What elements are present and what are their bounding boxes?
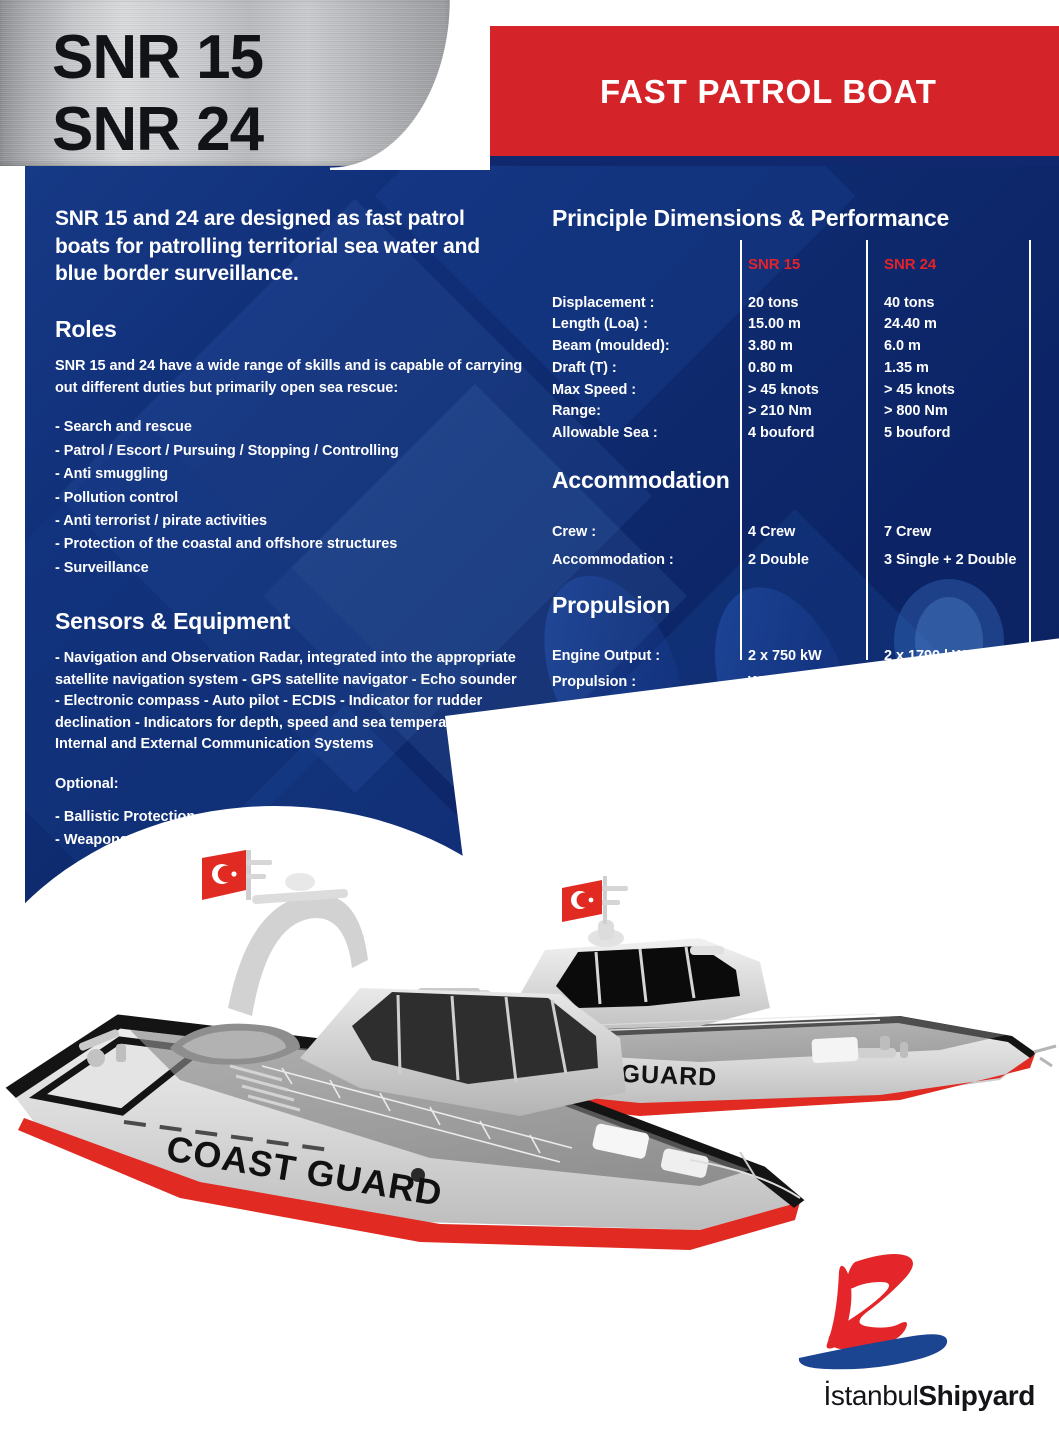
brochure-page: SNR 15 and 24 are designed as fast patro…	[0, 0, 1059, 1440]
turkish-flag-rear	[562, 880, 602, 922]
accommodation-heading: Accommodation	[552, 467, 1042, 494]
row-value-snr15: 2 Double	[742, 546, 878, 574]
table-divider-1	[740, 240, 742, 660]
company-name-bold: Shipyard	[918, 1380, 1035, 1411]
table-row: Range: > 210 Nm > 800 Nm	[552, 401, 1042, 423]
istanbul-shipyard-mark-icon	[795, 1248, 985, 1383]
row-label: Displacement :	[552, 293, 742, 315]
sensors-body: - Navigation and Observation Radar, inte…	[55, 648, 525, 755]
row-value-snr15: > 45 knots	[742, 380, 878, 402]
left-content-column: SNR 15 and 24 are designed as fast patro…	[55, 205, 525, 853]
list-item: - Ballistic Protection	[55, 806, 525, 829]
table-row: Max Speed : > 45 knots > 45 knots	[552, 380, 1042, 402]
row-value-snr15: 4 Crew	[742, 518, 878, 546]
row-value-snr15: 20 tons	[742, 293, 878, 315]
dimensions-heading: Principle Dimensions & Performance	[552, 205, 1042, 232]
row-value-snr15: 2 x 750 kW	[742, 644, 878, 669]
company-logo: İstanbulShipyard	[735, 1248, 1035, 1428]
table-divider-2	[866, 240, 868, 660]
table-row: Accommodation : 2 Double 3 Single + 2 Do…	[552, 546, 1042, 574]
table-row: Beam (moulded): 3.80 m 6.0 m	[552, 336, 1042, 358]
accommodation-table: Crew : 4 Crew 7 Crew Accommodation : 2 D…	[552, 518, 1042, 575]
propulsion-heading: Propulsion	[552, 592, 1042, 619]
list-item: - Search and rescue	[55, 416, 525, 439]
intro-paragraph: SNR 15 and 24 are designed as fast patro…	[55, 205, 525, 288]
row-value-snr24: Surface Drive	[878, 670, 1042, 695]
row-value-snr24: > 45 knots	[878, 380, 1042, 402]
row-value-snr15: > 210 Nm	[742, 401, 878, 423]
table-row: Engine Output : 2 x 750 kW 2 x 1790 kW	[552, 644, 1042, 669]
list-item: - Patrol / Escort / Pursuing / Stopping …	[55, 440, 525, 463]
row-label: Length (Loa) :	[552, 314, 742, 336]
row-label: Beam (moulded):	[552, 336, 742, 358]
row-value-snr15: WaterJets	[742, 670, 878, 695]
roles-heading: Roles	[55, 316, 525, 343]
row-label: Engine Output :	[552, 644, 742, 669]
turkish-flag-front	[202, 850, 246, 900]
row-value-snr15: 15.00 m	[742, 314, 878, 336]
list-item: - Anti terrorist / pirate activities	[55, 510, 525, 533]
row-label: Crew :	[552, 518, 742, 546]
table-row: Allowable Sea : 4 bouford 5 bouford	[552, 423, 1042, 445]
roles-intro: SNR 15 and 24 have a wide range of skill…	[55, 356, 525, 399]
table-row: Propulsion : WaterJets Surface Drive	[552, 670, 1042, 695]
row-value-snr24: 3 Single + 2 Double	[878, 546, 1042, 574]
sensors-heading: Sensors & Equipment	[55, 608, 525, 635]
row-value-snr24: 5 bouford	[878, 423, 1042, 445]
optional-label: Optional:	[55, 776, 525, 792]
row-value-snr24: 40 tons	[878, 293, 1042, 315]
row-value-snr24: 1.35 m	[878, 358, 1042, 380]
column-header-snr24: SNR 24	[878, 254, 1042, 277]
patrol-boat-illustration: COAST GUARD	[0, 830, 1059, 1300]
row-label: Accommodation :	[552, 546, 742, 574]
model-title: SNR 15 SNR 24	[52, 22, 412, 166]
banner-title: FAST PATROL BOAT	[600, 68, 1020, 116]
row-label: Range:	[552, 401, 742, 423]
row-label: Propulsion :	[552, 670, 742, 695]
propulsion-table: Engine Output : 2 x 750 kW 2 x 1790 kW P…	[552, 644, 1042, 695]
row-value-snr24: 2 x 1790 kW	[878, 644, 1042, 669]
row-label: Max Speed :	[552, 380, 742, 402]
row-value-snr24: > 800 Nm	[878, 401, 1042, 423]
row-value-snr15: 4 bouford	[742, 423, 878, 445]
table-row: Length (Loa) : 15.00 m 24.40 m	[552, 314, 1042, 336]
roles-list: - Search and rescue - Patrol / Escort / …	[55, 416, 525, 580]
dimensions-table: SNR 15 SNR 24 Displacement : 20 tons 40 …	[552, 254, 1042, 445]
company-name: İstanbulShipyard	[735, 1380, 1035, 1412]
optional-list: - Ballistic Protection - Weapons	[55, 806, 525, 853]
row-label: Allowable Sea :	[552, 423, 742, 445]
table-row: Displacement : 20 tons 40 tons	[552, 293, 1042, 315]
list-item: - Weapons	[55, 829, 525, 852]
table-divider-3	[1029, 240, 1031, 660]
row-value-snr15: 3.80 m	[742, 336, 878, 358]
model-title-line1: SNR 15	[52, 22, 412, 94]
row-value-snr15: 0.80 m	[742, 358, 878, 380]
table-header-row: SNR 15 SNR 24	[552, 254, 1042, 277]
model-title-line2: SNR 24	[52, 94, 412, 166]
list-item: - Surveillance	[55, 557, 525, 580]
table-row: Crew : 4 Crew 7 Crew	[552, 518, 1042, 546]
row-label: Draft (T) :	[552, 358, 742, 380]
list-item: - Anti smuggling	[55, 463, 525, 486]
list-item: - Protection of the coastal and offshore…	[55, 533, 525, 556]
row-value-snr24: 7 Crew	[878, 518, 1042, 546]
table-row: Draft (T) : 0.80 m 1.35 m	[552, 358, 1042, 380]
right-spec-column: Principle Dimensions & Performance SNR 1…	[552, 205, 1042, 695]
row-value-snr24: 24.40 m	[878, 314, 1042, 336]
column-header-snr15: SNR 15	[742, 254, 878, 277]
page-header: FAST PATROL BOAT SNR 15 SNR 24	[0, 0, 1059, 170]
company-name-light: İstanbul	[824, 1380, 919, 1411]
list-item: - Pollution control	[55, 487, 525, 510]
row-value-snr24: 6.0 m	[878, 336, 1042, 358]
